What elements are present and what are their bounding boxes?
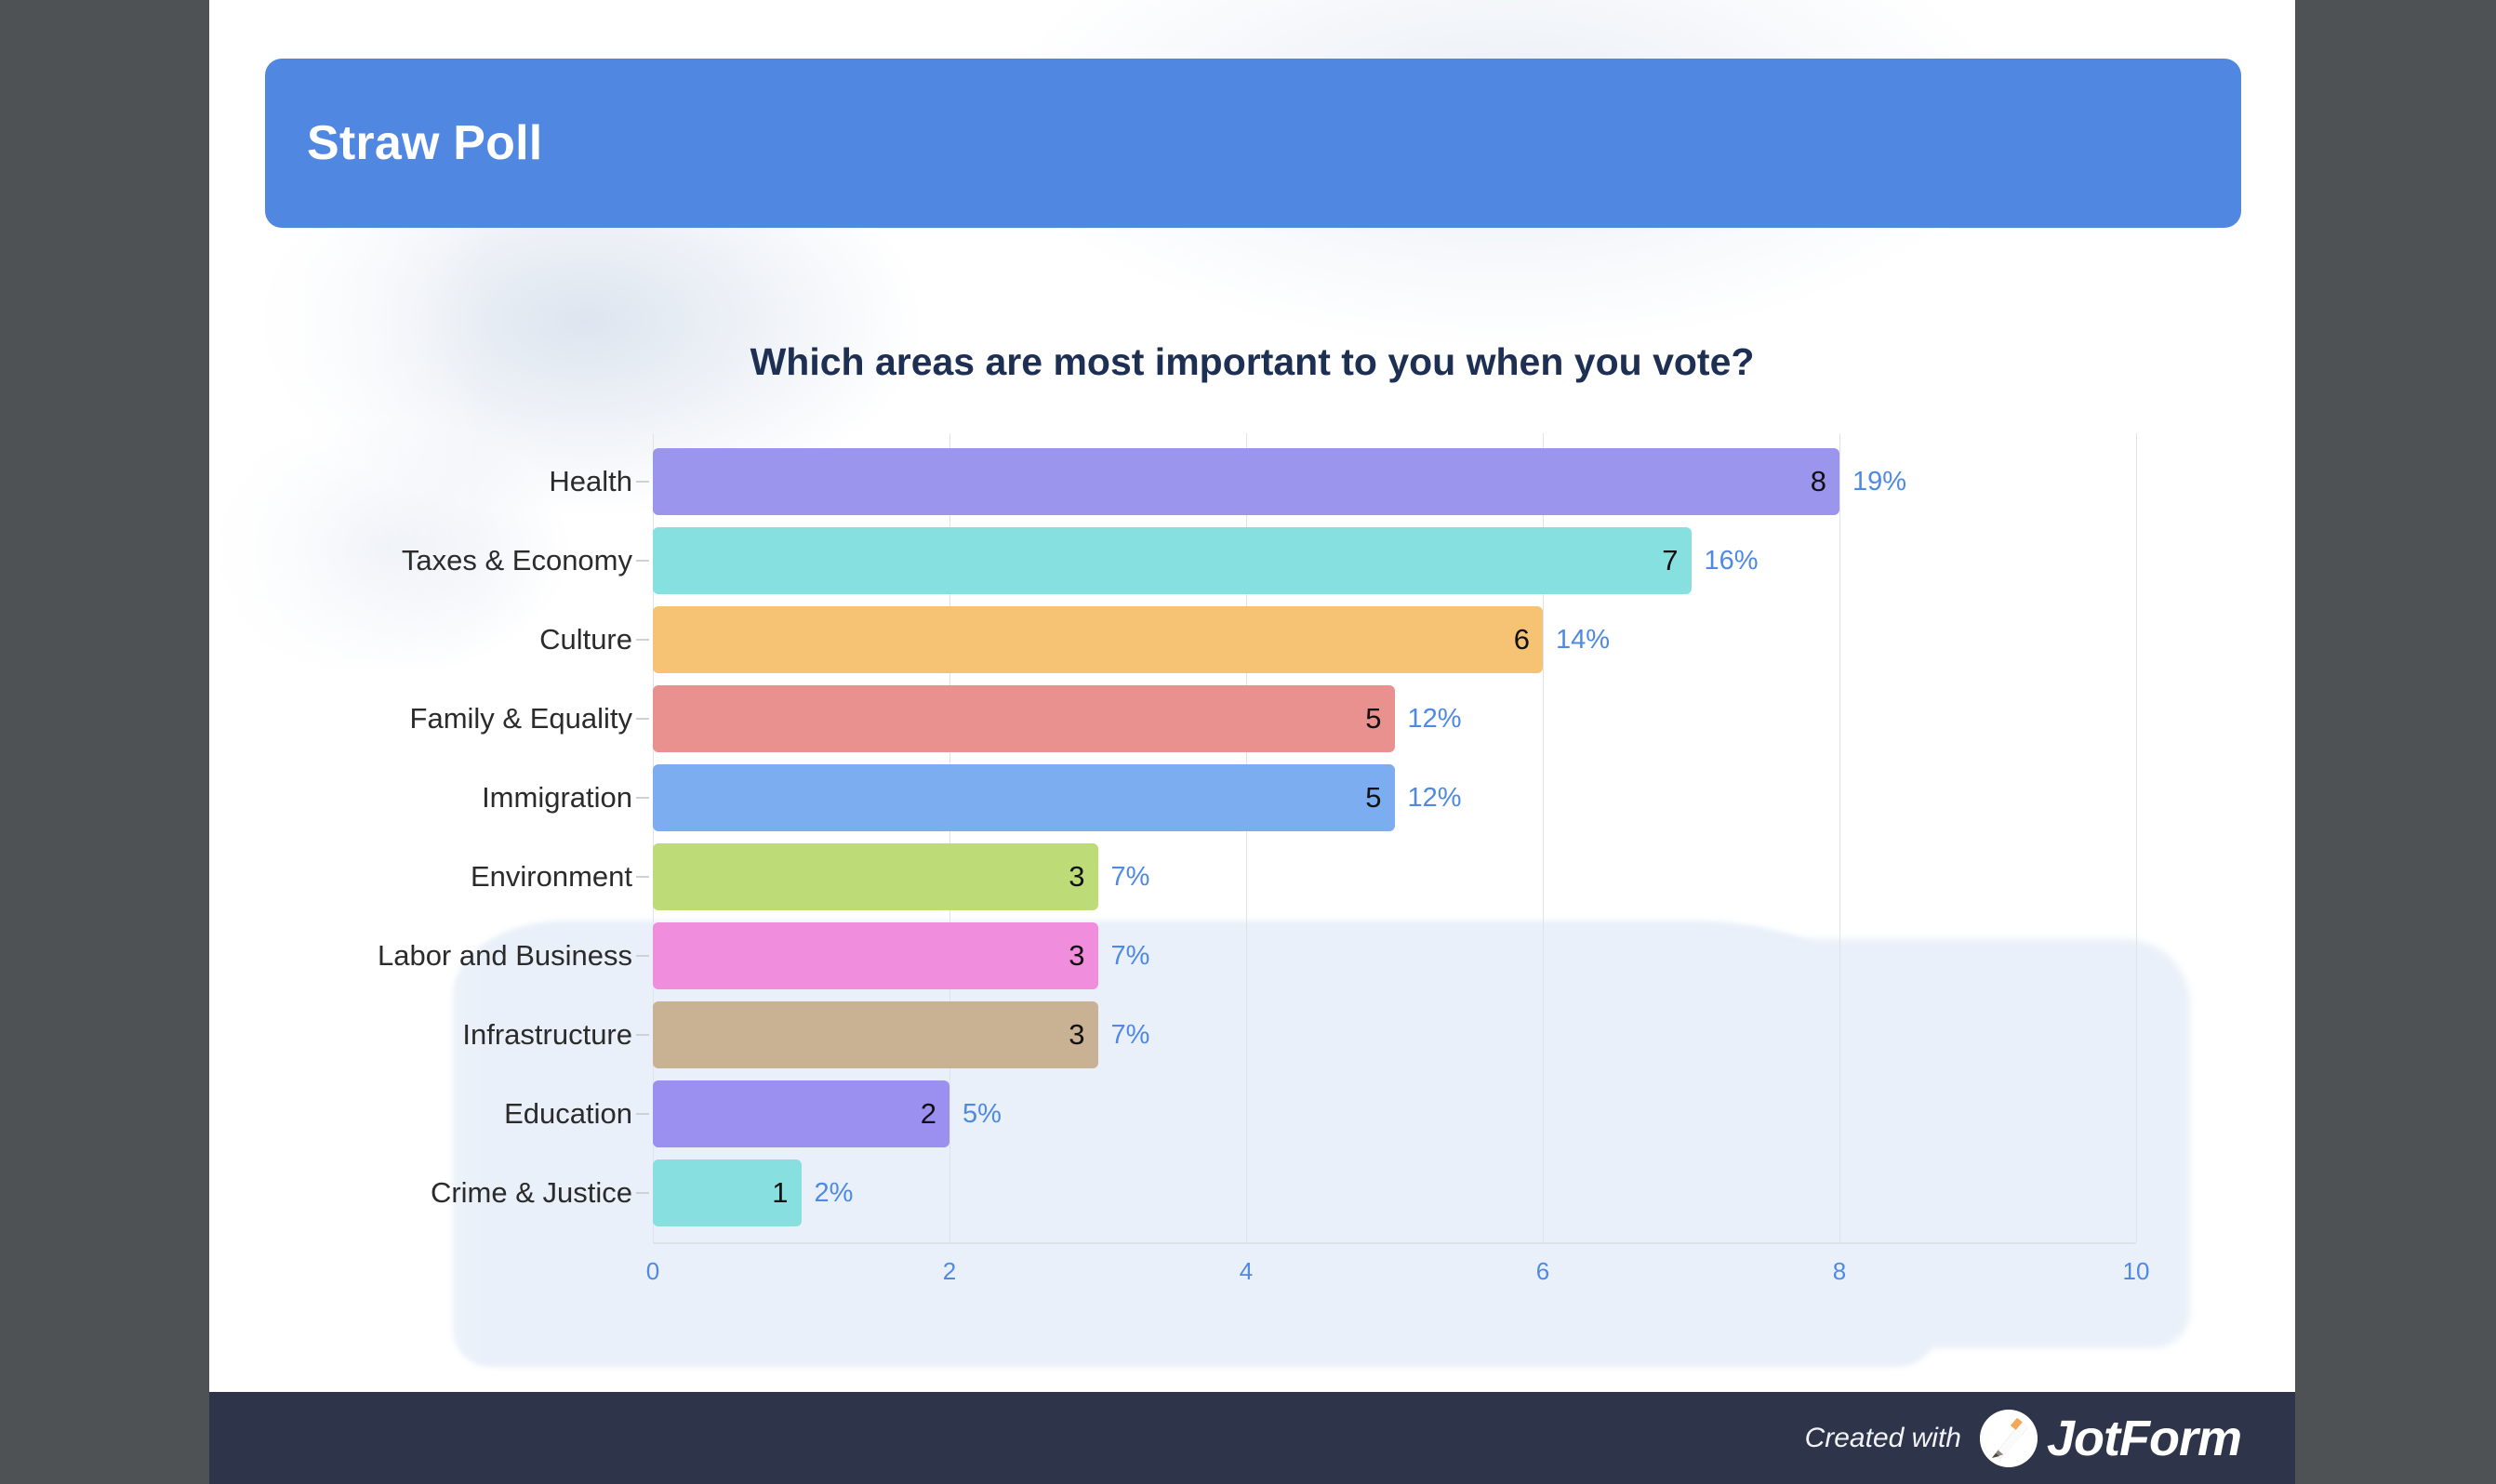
y-axis-tick-mark [636,1192,649,1194]
bar-percent-label: 7% [1111,922,1150,989]
bar-value-label: 7 [1662,544,1691,577]
bar[interactable]: 5 [653,685,1395,752]
bar-value-label: 8 [1811,465,1839,498]
value-axis-line [653,1242,2136,1244]
page-title: Straw Poll [265,115,542,171]
chart-row: Culture614% [653,606,2136,673]
chart-row: Crime & Justice12% [653,1159,2136,1226]
bar[interactable]: 5 [653,764,1395,831]
x-axis-tick-label: 0 [646,1257,659,1286]
bar-value-label: 5 [1365,781,1394,815]
bar[interactable]: 7 [653,527,1692,594]
y-axis-tick-mark [636,1034,649,1036]
chart-row: Taxes & Economy716% [653,527,2136,594]
x-axis-tick-label: 8 [1833,1257,1846,1286]
bar-value-label: 3 [1069,939,1097,973]
y-axis-tick-mark [636,1113,649,1115]
bar[interactable]: 3 [653,922,1098,989]
chart-row: Family & Equality512% [653,685,2136,752]
category-label: Crime & Justice [431,1159,632,1226]
bar-chart: 0246810Health819%Taxes & Economy716%Cult… [653,433,2136,1242]
chart-row: Infrastructure37% [653,1001,2136,1068]
bar-percent-label: 19% [1852,448,1906,515]
bar-percent-label: 5% [963,1080,1002,1147]
category-label: Immigration [482,764,632,831]
bar[interactable]: 3 [653,1001,1098,1068]
category-label: Family & Equality [410,685,632,752]
chart-row: Health819% [653,448,2136,515]
bar[interactable]: 6 [653,606,1543,673]
jotform-wordmark: JotForm [2047,1410,2241,1467]
bar-percent-label: 12% [1408,764,1462,831]
category-label: Labor and Business [378,922,632,989]
bar-percent-label: 2% [815,1159,854,1226]
pencil-icon [1980,1410,2038,1467]
category-label: Health [549,448,632,515]
y-axis-tick-mark [636,481,649,483]
y-axis-tick-mark [636,639,649,641]
bar[interactable]: 2 [653,1080,949,1147]
y-axis-tick-mark [636,955,649,957]
screenshot-root: Straw Poll Which areas are most importan… [0,0,2496,1484]
bar[interactable]: 1 [653,1159,802,1226]
category-label: Education [504,1080,632,1147]
grid-line [2136,433,2137,1242]
y-axis-tick-mark [636,876,649,878]
y-axis-tick-mark [636,797,649,799]
y-axis-tick-mark [636,718,649,720]
bar[interactable]: 8 [653,448,1839,515]
bar-value-label: 2 [921,1097,949,1131]
bar-percent-label: 7% [1111,1001,1150,1068]
category-label: Taxes & Economy [402,527,632,594]
y-axis-tick-mark [636,560,649,562]
bar-value-label: 5 [1365,702,1394,735]
chart-row: Immigration512% [653,764,2136,831]
bar-value-label: 3 [1069,1018,1097,1052]
bar-percent-label: 16% [1705,527,1759,594]
x-axis-tick-label: 2 [943,1257,956,1286]
category-label: Culture [539,606,632,673]
bar-percent-label: 7% [1111,843,1150,910]
bar[interactable]: 3 [653,843,1098,910]
report-card: Straw Poll Which areas are most importan… [209,0,2295,1484]
bar-percent-label: 12% [1408,685,1462,752]
jotform-logo[interactable]: JotForm [1980,1410,2241,1467]
bar-value-label: 6 [1514,623,1543,656]
bar-value-label: 1 [772,1176,801,1210]
x-axis-tick-label: 4 [1240,1257,1253,1286]
category-label: Environment [471,843,632,910]
bar-value-label: 3 [1069,860,1097,894]
chart-row: Environment37% [653,843,2136,910]
created-with-label: Created with [1805,1423,1961,1454]
x-axis-tick-label: 6 [1536,1257,1549,1286]
x-axis-tick-label: 10 [2123,1257,2150,1286]
category-label: Infrastructure [462,1001,632,1068]
chart-title: Which areas are most important to you wh… [209,340,2295,384]
bar-percent-label: 14% [1556,606,1610,673]
chart-row: Labor and Business37% [653,922,2136,989]
chart-row: Education25% [653,1080,2136,1147]
title-banner: Straw Poll [265,59,2241,228]
footer-bar: Created with JotForm [209,1392,2295,1484]
